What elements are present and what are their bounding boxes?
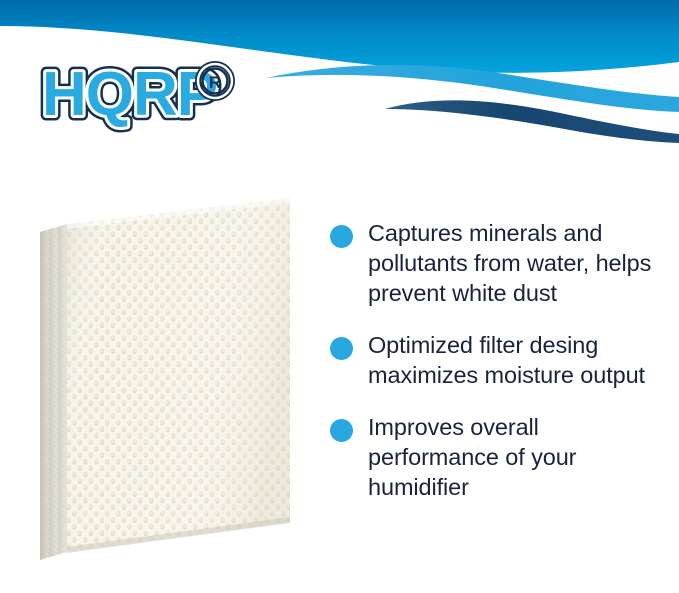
registered-trademark-icon: R [198, 64, 232, 98]
feature-text: Optimized filter desing maximizes moistu… [368, 330, 675, 390]
filter-mesh-face [62, 192, 298, 564]
feature-item: Improves overall performance of your hum… [330, 412, 675, 502]
bullet-dot-icon [330, 419, 353, 442]
logo-wordmark-fill: HQRP [42, 60, 217, 129]
feature-text: Improves overall performance of your hum… [368, 412, 675, 502]
feature-item: Captures minerals and pollutants from wa… [330, 218, 675, 308]
feature-text: Captures minerals and pollutants from wa… [368, 218, 675, 308]
product-photo-humidifier-filter [22, 192, 312, 582]
feature-item: Optimized filter desing maximizes moistu… [330, 330, 675, 390]
bullet-dot-icon [330, 337, 353, 360]
product-feature-image: HQRP HQRP HQRP R [0, 0, 679, 593]
bullet-dot-icon [330, 225, 353, 248]
brand-logo: HQRP HQRP HQRP R [38, 57, 268, 137]
svg-text:R: R [209, 73, 221, 92]
feature-list: Captures minerals and pollutants from wa… [330, 218, 675, 524]
